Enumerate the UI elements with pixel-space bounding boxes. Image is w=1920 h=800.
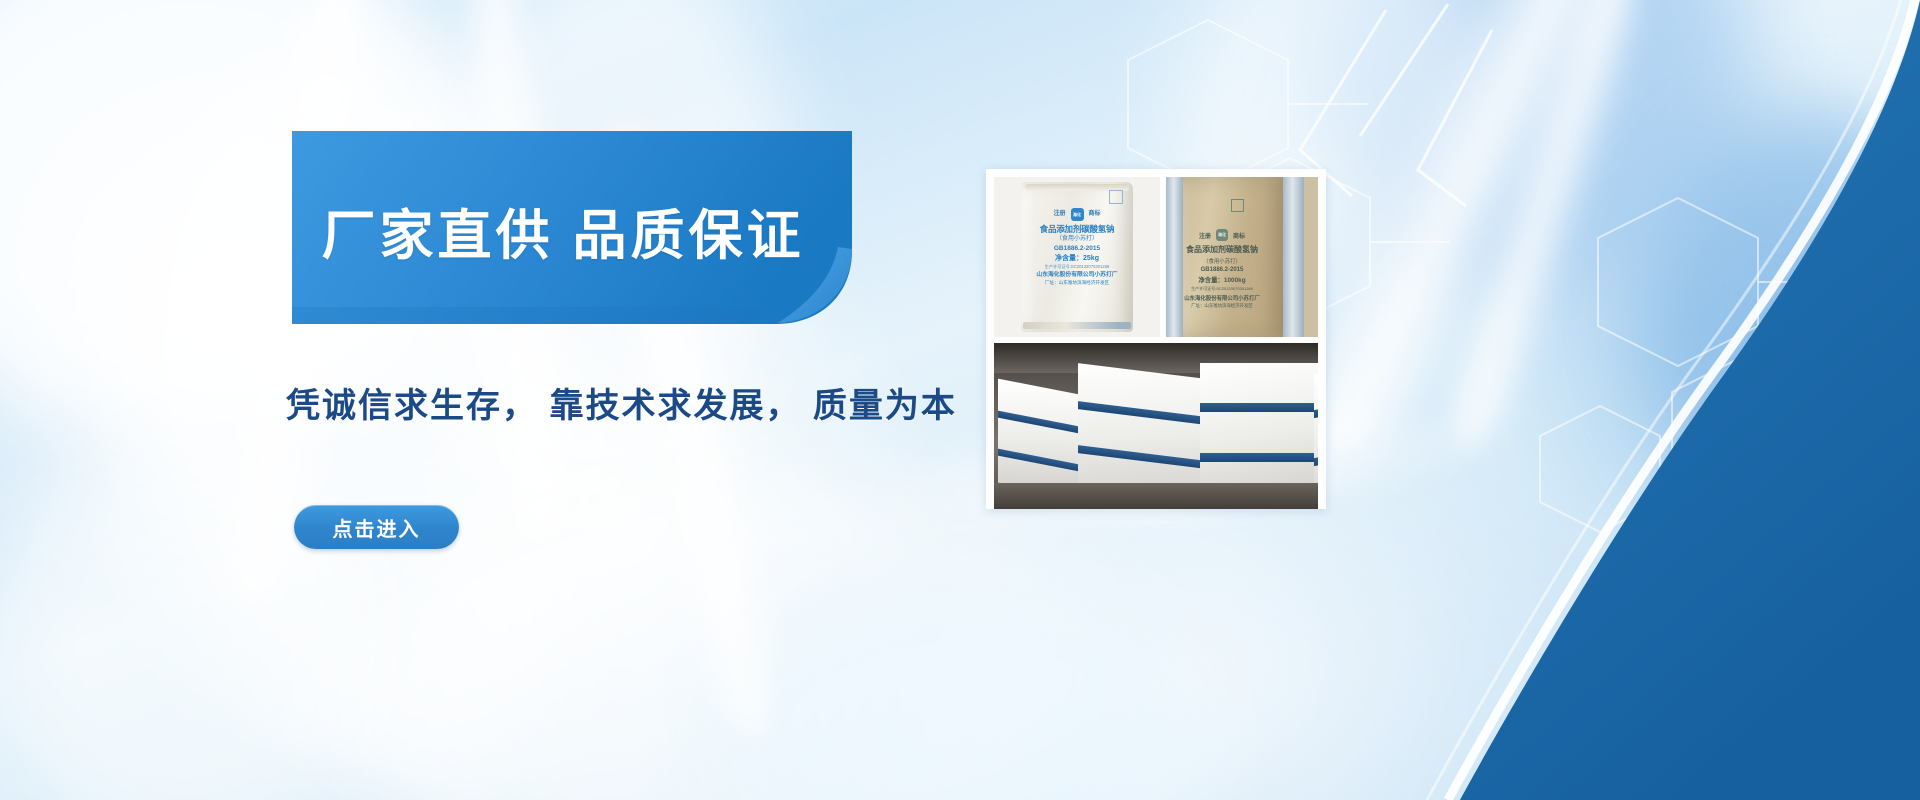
headline-text: 厂家直供 品质保证: [292, 209, 852, 263]
bag-company-name: 山东海化股份有限公司小苏打厂: [1184, 294, 1260, 302]
pallet-band: [1200, 403, 1318, 412]
bag-registered-text: 注册: [1199, 231, 1211, 240]
bag-25kg-label: 注册 海化 商标 食品添加剂碳酸氢钠 （食用小苏打） GB1886.2-2015…: [1027, 208, 1127, 285]
bag-strap: [1166, 177, 1183, 337]
bag-net-weight: 净含量：25kg: [1027, 255, 1127, 263]
bag-license-number: 生产许可证号:SC20133070301269: [1184, 286, 1260, 292]
bag-trademark-text: 商标: [1233, 231, 1245, 240]
bag-standard-code: GB1886.2-2015: [1184, 267, 1260, 273]
bag-25kg-illustration: 注册 海化 商标 食品添加剂碳酸氢钠 （食用小苏打） GB1886.2-2015…: [1021, 182, 1133, 332]
collage-top-row: 注册 海化 商标 食品添加剂碳酸氢钠 （食用小苏打） GB1886.2-2015…: [994, 177, 1318, 337]
bag-company-name: 山东海化股份有限公司小苏打厂: [1027, 272, 1127, 279]
brand-mark-icon: 海化: [1071, 208, 1084, 221]
bag-product-alias: （食用小苏打）: [1027, 236, 1127, 243]
product-photo-warehouse[interactable]: [994, 343, 1318, 509]
bag-trademark-text: 商标: [1089, 211, 1101, 218]
bag-corner-mark-icon: [1231, 199, 1244, 212]
warehouse-scene: [994, 343, 1318, 509]
product-photo-1000kg[interactable]: 注册 海化 商标 食品添加剂碳酸氢钠 （食用小苏打） GB1886.2-2015…: [1166, 177, 1318, 337]
bag-product-name: 食品添加剂碳酸氢钠: [1027, 224, 1127, 234]
enter-button[interactable]: 点击进入: [294, 505, 459, 549]
bag-1000kg-illustration: 注册 海化 商标 食品添加剂碳酸氢钠 （食用小苏打） GB1886.2-2015…: [1174, 177, 1284, 337]
pallet-band: [1200, 453, 1318, 462]
headline-plate: 厂家直供 品质保证: [292, 131, 852, 324]
bag-net-weight: 净含量：1000kg: [1184, 275, 1260, 284]
bag-product-name: 食品添加剂碳酸氢钠: [1184, 244, 1260, 255]
bag-product-alias: （食用小苏打）: [1184, 257, 1260, 265]
bag-1000kg-label: 注册 海化 商标 食品添加剂碳酸氢钠 （食用小苏打） GB1886.2-2015…: [1184, 229, 1260, 309]
product-photo-collage[interactable]: 注册 海化 商标 食品添加剂碳酸氢钠 （食用小苏打） GB1886.2-2015…: [986, 169, 1326, 509]
bag-license-number: 生产许可证号:SC20133070301269: [1027, 265, 1127, 270]
pallet-stack: [998, 379, 1084, 500]
bag-standard-code: GB1886.2-2015: [1027, 245, 1127, 253]
banner-stage: 厂家直供 品质保证 凭诚信求生存， 靠技术求发展， 质量为本 点击进入 注册 海…: [0, 0, 1920, 800]
bag-corner-mark-icon: [1109, 190, 1123, 204]
bag-registered-text: 注册: [1053, 211, 1065, 218]
warehouse-floor: [994, 483, 1318, 509]
bag-address: 厂址：山东潍坊滨海经济开发区: [1027, 280, 1127, 285]
bag-strap: [1283, 177, 1304, 337]
bag-address: 厂址：山东潍坊滨海经济开发区: [1184, 303, 1260, 309]
product-photo-25kg[interactable]: 注册 海化 商标 食品添加剂碳酸氢钠 （食用小苏打） GB1886.2-2015…: [994, 177, 1160, 337]
brand-mark-icon: 海化: [1216, 229, 1228, 241]
